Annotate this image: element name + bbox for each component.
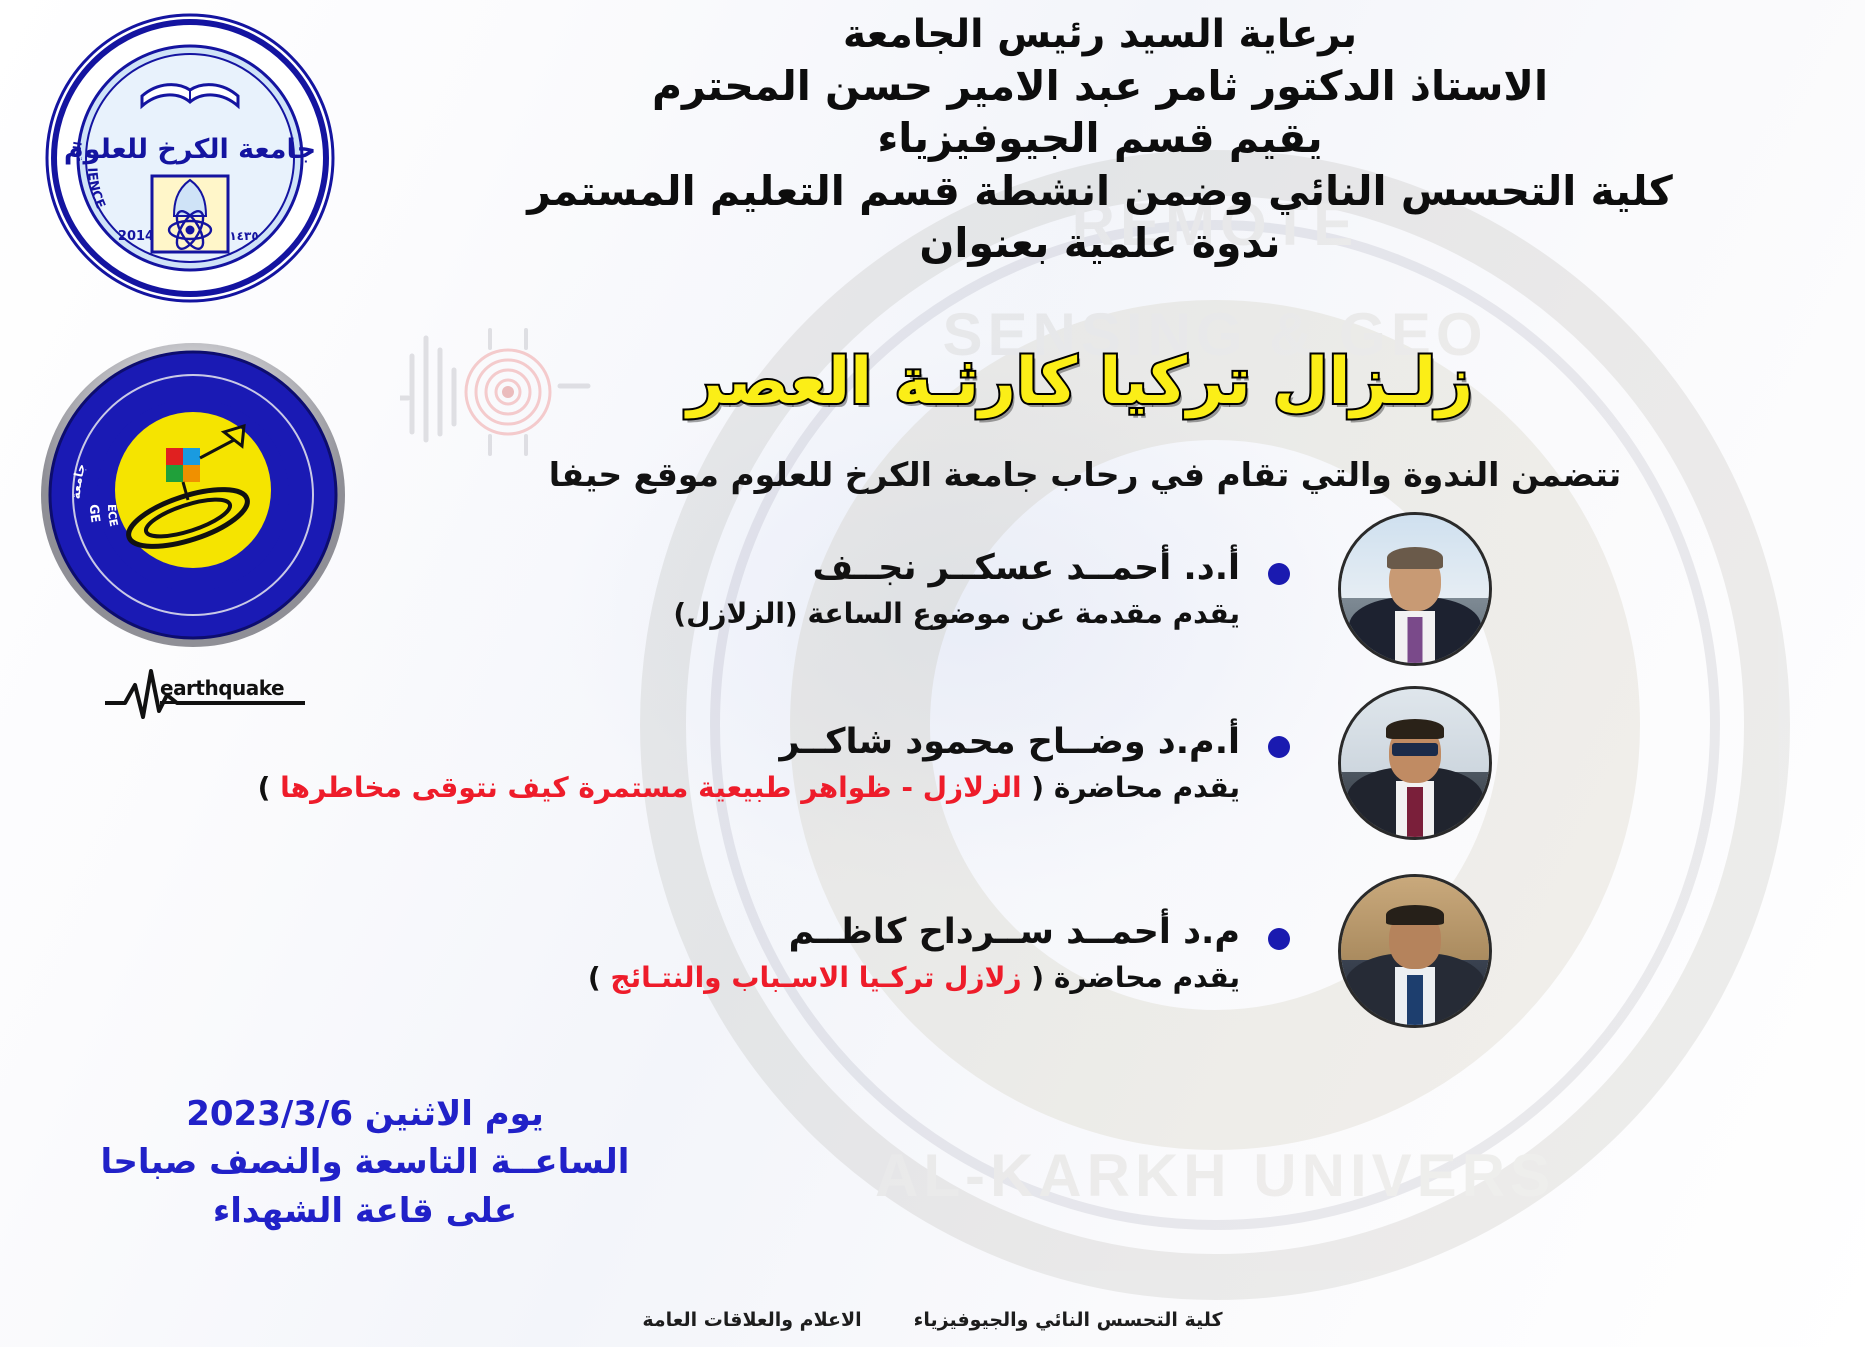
header-line-1: برعاية السيد رئيس الجامعة (360, 10, 1840, 60)
header-line-5: ندوة علمية بعنوان (360, 217, 1840, 269)
speaker-1-desc: يقدم مقدمة عن موضوع الساعة (الزلازل) (560, 597, 1240, 630)
event-time: الساعــة التاسعة والنصف صباحا (55, 1138, 675, 1186)
speaker-3-desc-prefix: يقدم محاضرة ( (1022, 961, 1240, 994)
watermark-line-3: AL-KARKH UNIVERS (640, 1141, 1790, 1210)
footer-right: كلية التحسس النائي والجيوفيزياء (914, 1309, 1223, 1331)
svg-text:١٤٣٥: ١٤٣٥ (229, 229, 258, 243)
speaker-1-name: أ.د. أحمــد عسكــر نجــف (560, 548, 1240, 588)
speaker-3-name: م.د أحمــد ســرداح كاظــم (540, 912, 1240, 952)
speaker-2-name: أ.م.د وضــاح محمود شاكــر (230, 722, 1240, 762)
header-line-4: كلية التحسس النائي وضمن انشطة قسم التعلي… (360, 165, 1840, 217)
speaker-3-desc: يقدم محاضرة ( زلازل تركـيا الاسـباب والن… (540, 961, 1240, 994)
speaker-2-desc-suffix: ) (258, 771, 281, 804)
speaker-2-desc: يقدم محاضرة ( الزلازل - ظواهر طبيعية مست… (230, 771, 1240, 804)
header-block: برعاية السيد رئيس الجامعة الاستاذ الدكتو… (360, 10, 1840, 270)
event-details: يوم الاثنين 2023/3/6 الساعــة التاسعة وا… (55, 1090, 675, 1235)
speaker-2-desc-prefix: يقدم محاضرة ( (1022, 771, 1240, 804)
header-line-2: الاستاذ الدكتور ثامر عبد الامير حسن المح… (360, 60, 1840, 112)
speaker-3: م.د أحمــد ســرداح كاظــم يقدم محاضرة ( … (540, 912, 1240, 994)
avatar-speaker-1 (1338, 512, 1492, 666)
footer-left: الاعلام والعلاقات العامة (642, 1309, 861, 1331)
bullet-speaker-3 (1268, 928, 1290, 950)
speaker-2: أ.م.د وضــاح محمود شاكــر يقدم محاضرة ( … (230, 722, 1240, 804)
university-logo: الذين آمنوا منكم والذين أوتوا العلم درجا… (40, 8, 340, 308)
svg-text:2014: 2014 (118, 229, 154, 244)
header-line-3: يقيم قسم الجيوفيزياء (360, 112, 1840, 164)
speaker-2-desc-highlight: الزلازل - ظواهر طبيعية مستمرة كيف نتوقى … (280, 771, 1021, 804)
bullet-speaker-1 (1268, 563, 1290, 585)
poster-canvas: REMOTE SENSING & GEO AL-KARKH UNIVERS ال… (0, 0, 1865, 1347)
college-logo: جامعة الكرخ للعلوم كلية التحسس النائي وا… (38, 340, 348, 650)
speaker-1: أ.د. أحمــد عسكــر نجــف يقدم مقدمة عن م… (560, 548, 1240, 630)
footer: كلية التحسس النائي والجيوفيزياءالاعلام و… (0, 1309, 1865, 1331)
avatar-speaker-3 (1338, 874, 1492, 1028)
page-title: زلـزال تركيا كارثـة العصر (360, 345, 1800, 419)
speaker-1-desc-prefix: يقدم مقدمة عن موضوع الساعة (الزلازل) (673, 597, 1240, 630)
bullet-speaker-2 (1268, 736, 1290, 758)
speaker-3-desc-suffix: ) (588, 961, 611, 994)
subtitle: تتضمن الندوة والتي تقام في رحاب جامعة ال… (330, 455, 1840, 494)
avatar-speaker-2 (1338, 686, 1492, 840)
event-date: يوم الاثنين 2023/3/6 (55, 1090, 675, 1138)
svg-text:جامعة الكرخ للعلوم: جامعة الكرخ للعلوم (64, 134, 316, 165)
speaker-3-desc-highlight: زلازل تركـيا الاسـباب والنتـائج (610, 961, 1021, 994)
event-venue: على قاعة الشهداء (55, 1187, 675, 1235)
earthquake-label: earthquake (160, 676, 284, 704)
